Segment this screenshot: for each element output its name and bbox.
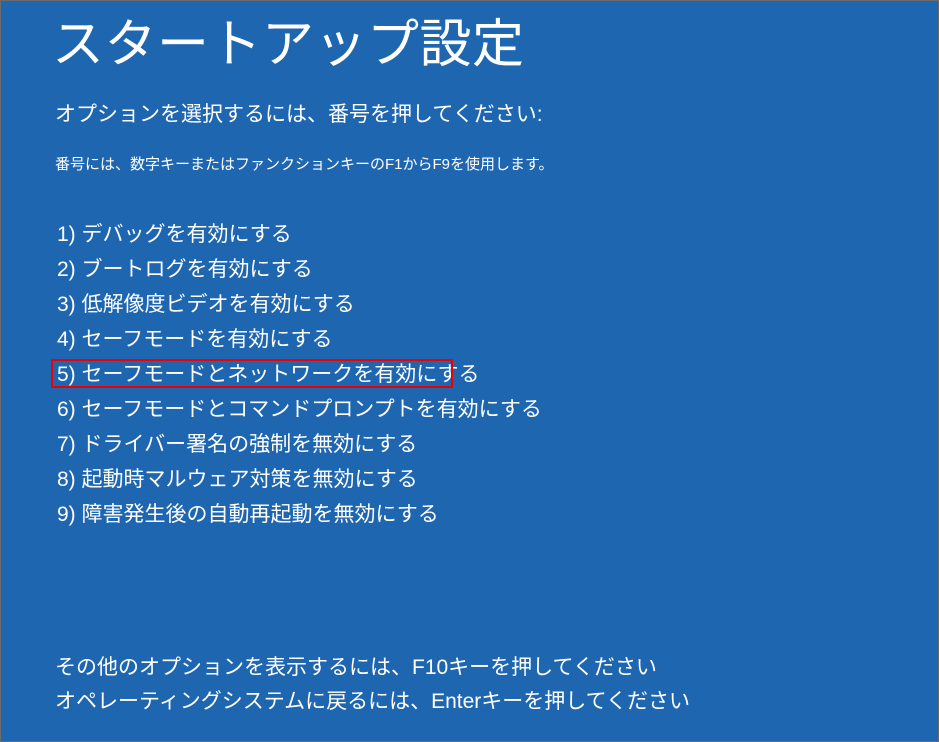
footer: その他のオプションを表示するには、F10キーを押してください オペレーティングシ… — [55, 651, 855, 719]
startup-options-list: 1) デバッグを有効にする2) ブートログを有効にする3) 低解像度ビデオを有効… — [55, 217, 755, 532]
startup-option-label: 7) ドライバー署名の強制を無効にする — [55, 432, 419, 458]
startup-option-label: 6) セーフモードとコマンドプロンプトを有効にする — [55, 397, 544, 423]
startup-option-label: 3) 低解像度ビデオを有効にする — [55, 292, 357, 318]
instruction-primary-text: オプションを選択するには、番号を押してください: — [55, 101, 543, 129]
footer-return-to-os-hint: オペレーティングシステムに戻るには、Enterキーを押してください — [55, 685, 855, 719]
instruction-secondary-text: 番号には、数字キーまたはファンクションキーのF1からF9を使用します。 — [55, 154, 554, 176]
startup-option-1[interactable]: 1) デバッグを有効にする — [55, 217, 755, 252]
startup-option-2[interactable]: 2) ブートログを有効にする — [55, 252, 755, 287]
startup-option-3[interactable]: 3) 低解像度ビデオを有効にする — [55, 287, 755, 322]
startup-option-4[interactable]: 4) セーフモードを有効にする — [55, 322, 755, 357]
page-title: スタートアップ設定 — [52, 13, 525, 77]
startup-option-label: 9) 障害発生後の自動再起動を無効にする — [55, 502, 441, 528]
startup-option-8[interactable]: 8) 起動時マルウェア対策を無効にする — [55, 462, 755, 497]
startup-option-label: 4) セーフモードを有効にする — [55, 327, 334, 353]
startup-option-label: 8) 起動時マルウェア対策を無効にする — [55, 467, 420, 493]
startup-option-9[interactable]: 9) 障害発生後の自動再起動を無効にする — [55, 497, 755, 532]
startup-option-label: 2) ブートログを有効にする — [55, 257, 315, 283]
startup-option-label: 5) セーフモードとネットワークを有効にする — [55, 362, 481, 388]
startup-option-7[interactable]: 7) ドライバー署名の強制を無効にする — [55, 427, 755, 462]
startup-settings-screen: スタートアップ設定 オプションを選択するには、番号を押してください: 番号には、… — [0, 0, 939, 742]
startup-option-5[interactable]: 5) セーフモードとネットワークを有効にする — [55, 357, 453, 392]
startup-option-label: 1) デバッグを有効にする — [55, 222, 294, 248]
startup-option-6[interactable]: 6) セーフモードとコマンドプロンプトを有効にする — [55, 392, 755, 427]
footer-more-options-hint: その他のオプションを表示するには、F10キーを押してください — [55, 651, 855, 685]
